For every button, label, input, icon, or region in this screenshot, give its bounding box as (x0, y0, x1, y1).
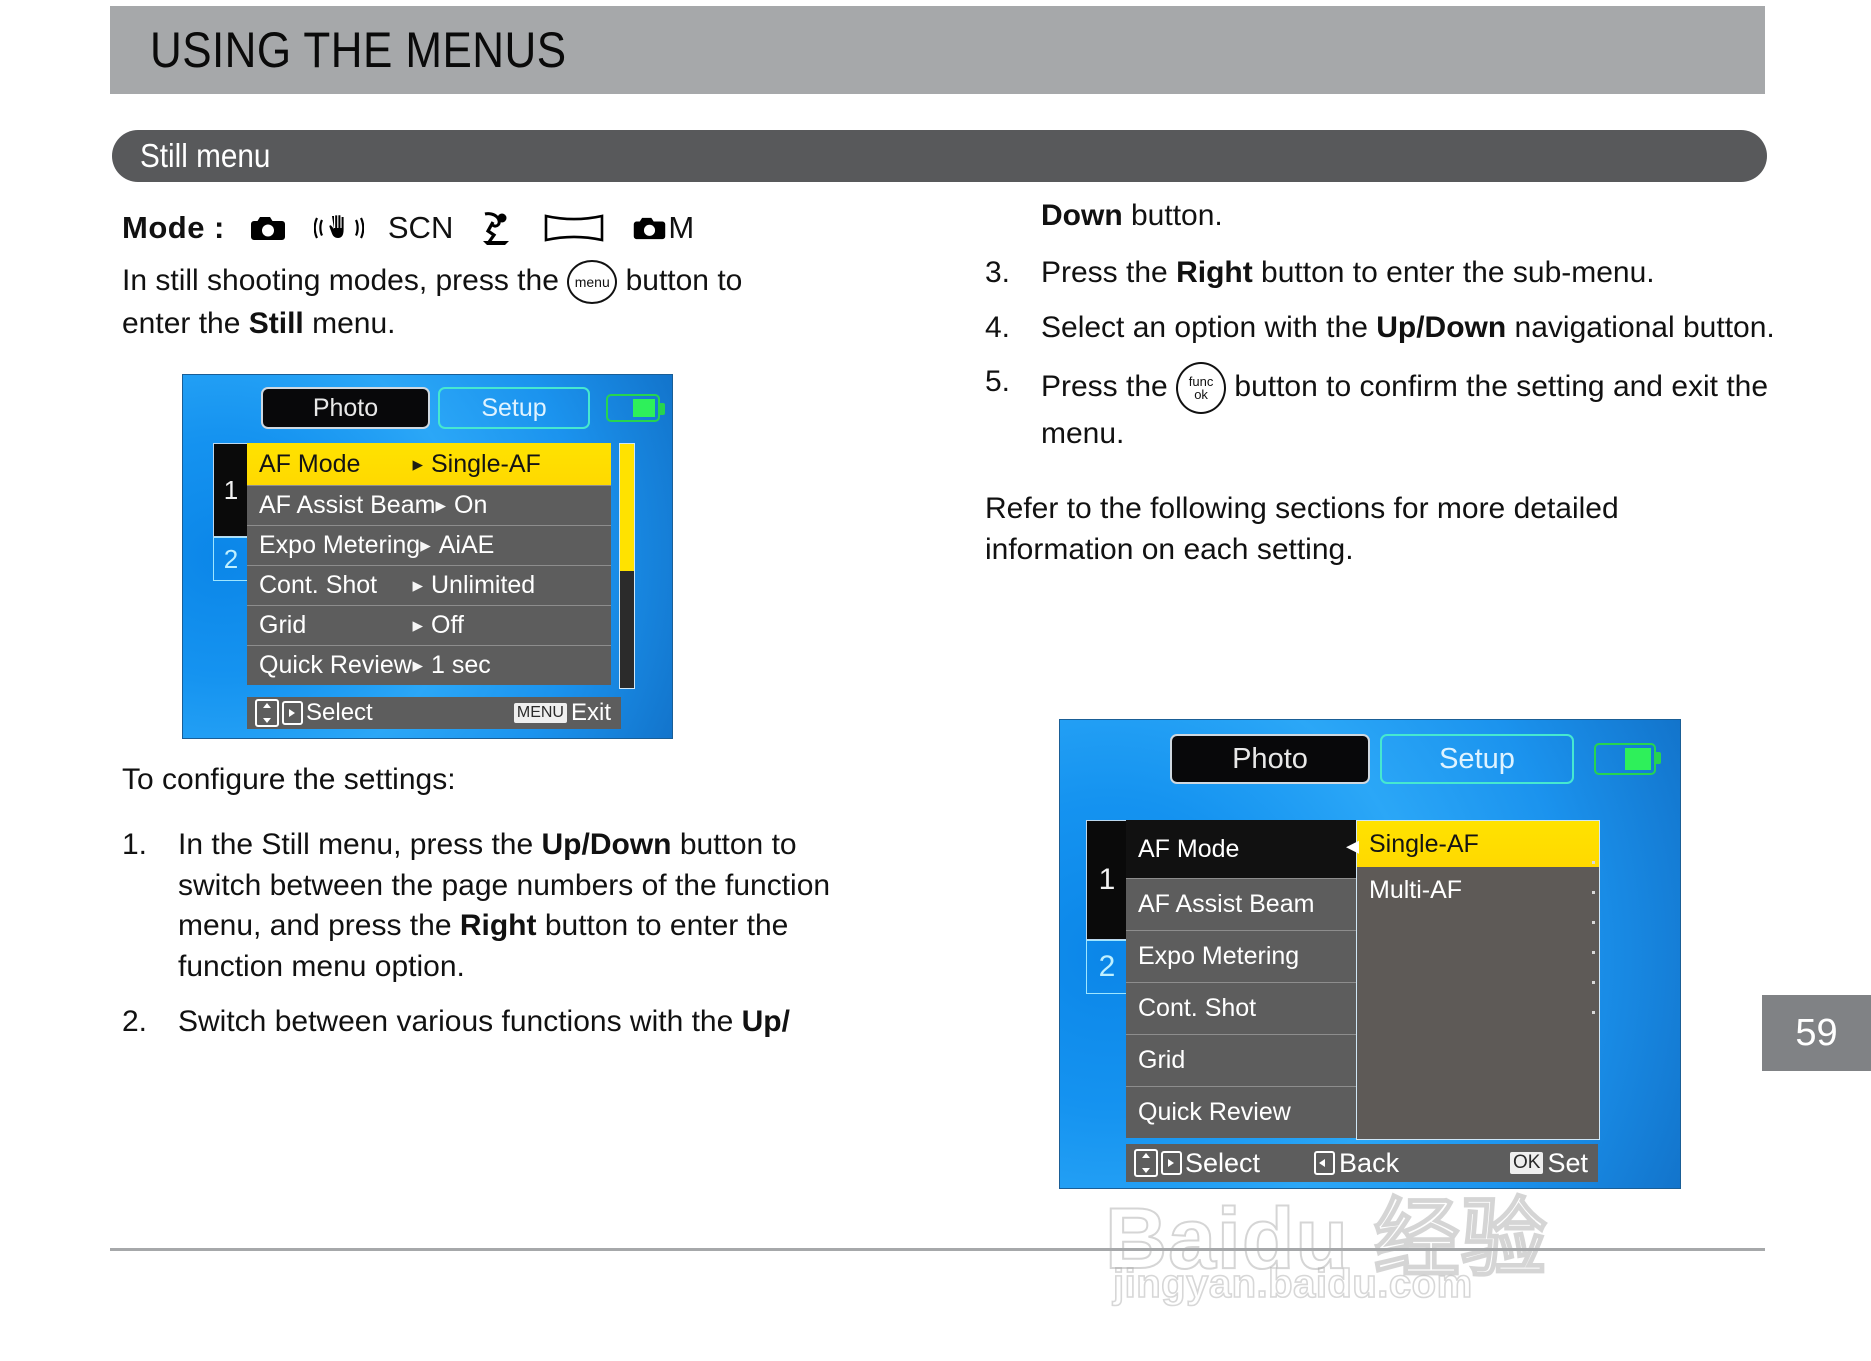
menu-row-grid[interactable]: Grid ▸ Off (247, 605, 611, 645)
tab-photo[interactable]: Photo (1170, 734, 1370, 784)
status-exit-group: MENU Exit (514, 699, 621, 727)
row-value: Off (427, 611, 611, 640)
ok-key-cap: OK (1510, 1152, 1543, 1175)
row-key: Expo Metering (1126, 942, 1299, 971)
row-key: Grid (1126, 1046, 1185, 1075)
steps-list-right: 3. Press the Right button to enter the s… (985, 253, 1785, 455)
row-value: Unlimited (427, 571, 611, 600)
mode-m-label: M (668, 210, 694, 246)
row-arrow-icon: ▸ (412, 452, 427, 477)
list-item-number: 4. (985, 308, 1029, 349)
page-indicator-1[interactable]: 1 (1086, 820, 1128, 940)
menu-row-expo-metering[interactable]: Expo Metering (1126, 930, 1356, 982)
row-arrow-icon: ▸ (412, 613, 427, 638)
row-arrow-icon: ▸ (412, 573, 427, 598)
list-item-text: Press the Right button to enter the sub-… (1041, 256, 1655, 289)
intro-rest: menu. (312, 307, 395, 340)
status-select-group: Select (1126, 1148, 1260, 1179)
af-mode-options-panel: Single-AF Multi-AF (1356, 820, 1600, 1140)
mode-label: Mode : (122, 210, 225, 246)
list-item: 4. Select an option with the Up/Down nav… (985, 308, 1785, 349)
list-item-text: In the Still menu, press the Up/Down but… (178, 828, 830, 983)
configure-heading: To configure the settings: (122, 760, 882, 801)
lcd-tab-bar: Photo Setup (261, 387, 661, 429)
anti-shake-icon (314, 212, 364, 244)
intro-prefix: In still shooting modes, press the (122, 264, 559, 297)
row-key: Expo Metering (247, 531, 420, 560)
menu-row-af-assist-beam[interactable]: AF Assist Beam ▸ On (247, 485, 611, 525)
row-key: Quick Review (247, 651, 412, 680)
row-arrow-icon: ▸ (420, 533, 435, 558)
status-exit-label: Exit (571, 699, 611, 727)
status-back-group: Back (1314, 1148, 1399, 1179)
menu-row-quick-review[interactable]: Quick Review (1126, 1086, 1356, 1138)
list-item-number: 3. (985, 253, 1029, 294)
menu-rows: AF Mode AF Assist Beam Expo Metering Con… (1126, 820, 1356, 1138)
bold-right: Right (460, 909, 537, 942)
row-key: AF Assist Beam (1126, 890, 1314, 919)
menu-row-af-mode[interactable]: AF Mode ▸ Single-AF (247, 443, 611, 485)
lcd-still-menu: Photo Setup 1 2 AF Mode ▸ Single-AF AF A… (183, 375, 672, 738)
camera-manual-icon (631, 214, 668, 242)
row-key: AF Mode (1126, 835, 1239, 864)
bold-updown: Up/Down (1376, 311, 1506, 344)
submenu-scroll-dots (1592, 861, 1595, 1041)
bold-down: Down (1041, 199, 1123, 232)
bold-updown: Up/Down (542, 828, 672, 861)
submenu-option-multi-af[interactable]: Multi-AF (1357, 867, 1599, 913)
section-title: Still menu (140, 137, 270, 175)
chapter-header-bar: USING THE MENUS (110, 6, 1765, 94)
page-title: USING THE MENUS (150, 21, 567, 79)
page-indicator-column: 1 2 (1086, 820, 1126, 994)
lcd-tab-bar: Photo Setup (1170, 734, 1670, 784)
status-select-label: Select (306, 699, 373, 727)
bold-right: Right (1176, 256, 1253, 289)
page-indicator-2[interactable]: 2 (1086, 940, 1128, 994)
lcd-status-bar: Select Back OK Set (1126, 1144, 1598, 1182)
menu-row-quick-review[interactable]: Quick Review ▸ 1 sec (247, 645, 611, 685)
panorama-icon (543, 213, 605, 243)
page-indicator-1[interactable]: 1 (213, 443, 249, 537)
list-item-text: Switch between various functions with th… (178, 1005, 790, 1038)
menu-row-grid[interactable]: Grid (1126, 1034, 1356, 1086)
updown-key-icon (1134, 1149, 1158, 1177)
list-item-number: 5. (985, 362, 1029, 403)
refer-paragraph: Refer to the following sections for more… (985, 489, 1665, 571)
row-key: Quick Review (1126, 1098, 1291, 1127)
status-select-label: Select (1185, 1148, 1260, 1179)
continuation-rest: button. (1131, 199, 1223, 232)
func-ok-button-icon: funcok (1176, 362, 1226, 414)
right-key-icon (1161, 1151, 1182, 1175)
list-item: 5. Press the funcok button to confirm th… (985, 362, 1785, 455)
list-item-number: 2. (122, 1002, 166, 1043)
left-key-icon (1314, 1151, 1335, 1175)
tab-setup[interactable]: Setup (438, 387, 590, 429)
row-value: AiAE (435, 531, 611, 560)
status-back-label: Back (1339, 1148, 1399, 1179)
list-item-number: 1. (122, 825, 166, 866)
menu-row-af-assist-beam[interactable]: AF Assist Beam (1126, 878, 1356, 930)
page-indicator-2[interactable]: 2 (213, 537, 249, 581)
submenu-left-arrow-icon: ◂ (1346, 830, 1359, 861)
right-column: Down button. 3. Press the Right button t… (985, 196, 1785, 587)
list-item-text: Select an option with the Up/Down naviga… (1041, 311, 1775, 344)
row-key: Cont. Shot (1126, 994, 1256, 1023)
list-item: 1. In the Still menu, press the Up/Down … (122, 825, 882, 988)
menu-row-expo-metering[interactable]: Expo Metering ▸ AiAE (247, 525, 611, 565)
battery-icon (1594, 743, 1656, 775)
camera-icon (248, 213, 288, 243)
sport-icon (477, 210, 517, 246)
row-arrow-icon: ▸ (435, 493, 450, 518)
battery-icon (606, 394, 660, 422)
mode-scn-label: SCN (388, 210, 453, 246)
left-column-bottom: To configure the settings: 1. In the Sti… (122, 760, 882, 1057)
menu-key-cap: MENU (514, 703, 567, 723)
menu-button-icon: menu (567, 260, 617, 304)
continuation-paragraph: Down button. (1041, 196, 1785, 237)
watermark-url: jingyan.baidu.com (1113, 1262, 1473, 1307)
menu-row-cont-shot[interactable]: Cont. Shot (1126, 982, 1356, 1034)
status-set-label: Set (1547, 1148, 1588, 1179)
row-arrow-icon: ▸ (412, 653, 427, 678)
footer-divider (110, 1248, 1765, 1251)
section-header-bar: Still menu (112, 130, 1767, 182)
row-key: Cont. Shot (247, 571, 377, 600)
menu-row-af-mode[interactable]: AF Mode (1126, 820, 1356, 878)
lcd-status-bar: Select MENU Exit (247, 697, 621, 729)
page-number-badge: 59 (1762, 995, 1871, 1071)
left-column: Mode : SCN (122, 210, 872, 361)
row-key: AF Assist Beam (247, 491, 435, 520)
intro-paragraph: In still shooting modes, press the menu … (122, 260, 782, 345)
tab-photo[interactable]: Photo (261, 387, 430, 429)
list-item: 3. Press the Right button to enter the s… (985, 253, 1785, 294)
updown-key-icon (255, 699, 279, 727)
menu-scrollbar[interactable] (619, 443, 635, 689)
row-value: 1 sec (427, 651, 611, 680)
right-key-icon (282, 701, 303, 725)
menu-rows: AF Mode ▸ Single-AF AF Assist Beam ▸ On … (247, 443, 611, 685)
steps-list-left: 1. In the Still menu, press the Up/Down … (122, 825, 882, 1043)
menu-row-cont-shot[interactable]: Cont. Shot ▸ Unlimited (247, 565, 611, 605)
lcd-af-mode-submenu: Photo Setup 1 2 AF Mode AF Assist Beam E… (1060, 720, 1680, 1188)
mode-row: Mode : SCN (122, 210, 872, 246)
status-select-group: Select (247, 699, 373, 727)
tab-setup[interactable]: Setup (1380, 734, 1574, 784)
list-item: 2. Switch between various functions with… (122, 1002, 882, 1043)
row-value: On (450, 491, 611, 520)
row-key: AF Mode (247, 450, 360, 479)
row-value: Single-AF (427, 450, 611, 479)
status-set-group: OK Set (1510, 1148, 1598, 1179)
submenu-option-single-af[interactable]: Single-AF (1357, 821, 1599, 867)
page-indicator-column: 1 2 (213, 443, 247, 581)
list-item-text: Press the funcok button to confirm the s… (1041, 370, 1768, 450)
intro-still-bold: Still (249, 307, 304, 340)
bold-up: Up/ (742, 1005, 790, 1038)
row-key: Grid (247, 611, 306, 640)
